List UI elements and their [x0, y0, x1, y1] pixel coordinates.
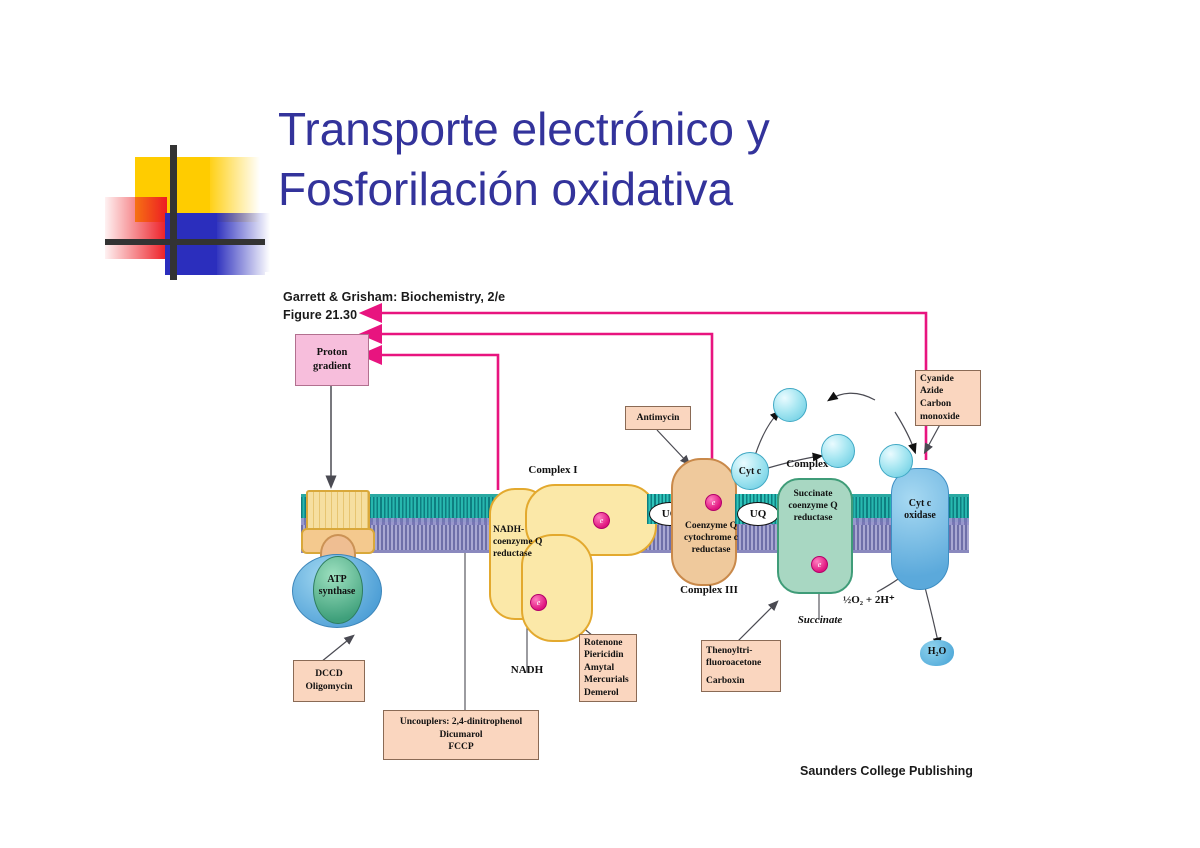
rotenone-line-4: Mercurials [584, 674, 629, 687]
uncouplers-line-3: FCCP [448, 741, 473, 754]
complex-ii-enzyme-name: Succinate coenzyme Q reductase [777, 488, 849, 524]
figure-panel: Garrett & Grisham: Biochemistry, 2/e Fig… [265, 272, 1002, 800]
rotenone-line-1: Rotenone [584, 637, 623, 650]
succinate-label: Succinate [785, 614, 855, 627]
complex-i-enzyme-name: NADH- coenzyme Q reductase [493, 524, 565, 560]
decorative-squares-logo [105, 145, 265, 280]
rotenone-line-3: Amytal [584, 662, 614, 675]
cyt-c-oxidase-body [891, 468, 949, 590]
dccd-line-1: DCCD [315, 668, 342, 681]
inhibitor-box-thenoyltrifluoroacetone[interactable]: Thenoyltri- fluoroacetone Carboxin [701, 640, 781, 692]
uncouplers-line-1: Uncouplers: 2,4-dinitrophenol [400, 716, 522, 729]
logo-vertical-bar [170, 145, 177, 280]
cyt-c-sphere-3[interactable] [821, 434, 855, 468]
thenoyl-line-1: Thenoyltri- [706, 645, 752, 658]
page-title: Transporte electrónico y Fosforilación o… [278, 100, 978, 220]
cyt-c-sphere-2[interactable] [773, 388, 807, 422]
inhibitor-box-antimycin[interactable]: Antimycin [625, 406, 691, 430]
cyt-c-oxidase-label: Cyt c oxidase [893, 498, 947, 522]
logo-red-square [105, 197, 167, 259]
thenoyl-line-2: fluoroacetone [706, 657, 761, 670]
cyanide-line-3: Carbon [920, 398, 951, 411]
inhibitor-box-dccd[interactable]: DCCD Oligomycin [293, 660, 365, 702]
electron-bead-complex-i-top: e [593, 512, 610, 529]
logo-horizontal-bar [105, 239, 265, 245]
water-label: H₂O [917, 646, 957, 658]
cyt-c-sphere-4[interactable] [879, 444, 913, 478]
rotenone-line-5: Demerol [584, 687, 619, 700]
complex-iii-title: Complex III [663, 584, 755, 597]
cyanide-line-4: monoxide [920, 411, 960, 424]
proton-gradient-line-2: gradient [313, 360, 351, 374]
publisher-credit: Saunders College Publishing [800, 764, 973, 778]
complex-i-title: Complex I [508, 464, 598, 477]
electron-bead-complex-iii: e [705, 494, 722, 511]
inhibitor-box-uncouplers[interactable]: Uncouplers: 2,4-dinitrophenol Dicumarol … [383, 710, 539, 760]
electron-bead-complex-i-bottom: e [530, 594, 547, 611]
cyanide-line-1: Cyanide [920, 373, 954, 386]
atp-synthase-label: ATP synthase [309, 574, 365, 598]
uq-molecule-right[interactable]: UQ [737, 502, 779, 526]
oxygen-label: ½O₂ + 2H⁺ [843, 594, 923, 607]
cyanide-line-2: Azide [920, 385, 943, 398]
electron-bead-complex-ii: e [811, 556, 828, 573]
proton-gradient-line-1: Proton [317, 346, 348, 360]
slide-canvas: Transporte electrónico y Fosforilación o… [0, 0, 1200, 848]
proton-gradient-box[interactable]: Proton gradient [295, 334, 369, 386]
antimycin-line-1: Antimycin [637, 412, 680, 425]
title-line-2: Fosforilación oxidativa [278, 160, 978, 220]
nadh-label: NADH [497, 664, 557, 677]
inhibitor-box-cyanide[interactable]: Cyanide Azide Carbon monoxide [915, 370, 981, 426]
thenoyl-line-3: Carboxin [706, 675, 745, 688]
cyt-c-labeled[interactable]: Cyt c [731, 452, 769, 490]
uncouplers-line-2: Dicumarol [439, 729, 482, 742]
inhibitor-box-rotenone[interactable]: Rotenone Piericidin Amytal Mercurials De… [579, 634, 637, 702]
title-line-1: Transporte electrónico y [278, 103, 770, 155]
rotenone-line-2: Piericidin [584, 649, 624, 662]
complex-iii-enzyme-name: Coenzyme Q cytochrome c reductase [673, 520, 749, 556]
dccd-line-2: Oligomycin [306, 681, 353, 694]
